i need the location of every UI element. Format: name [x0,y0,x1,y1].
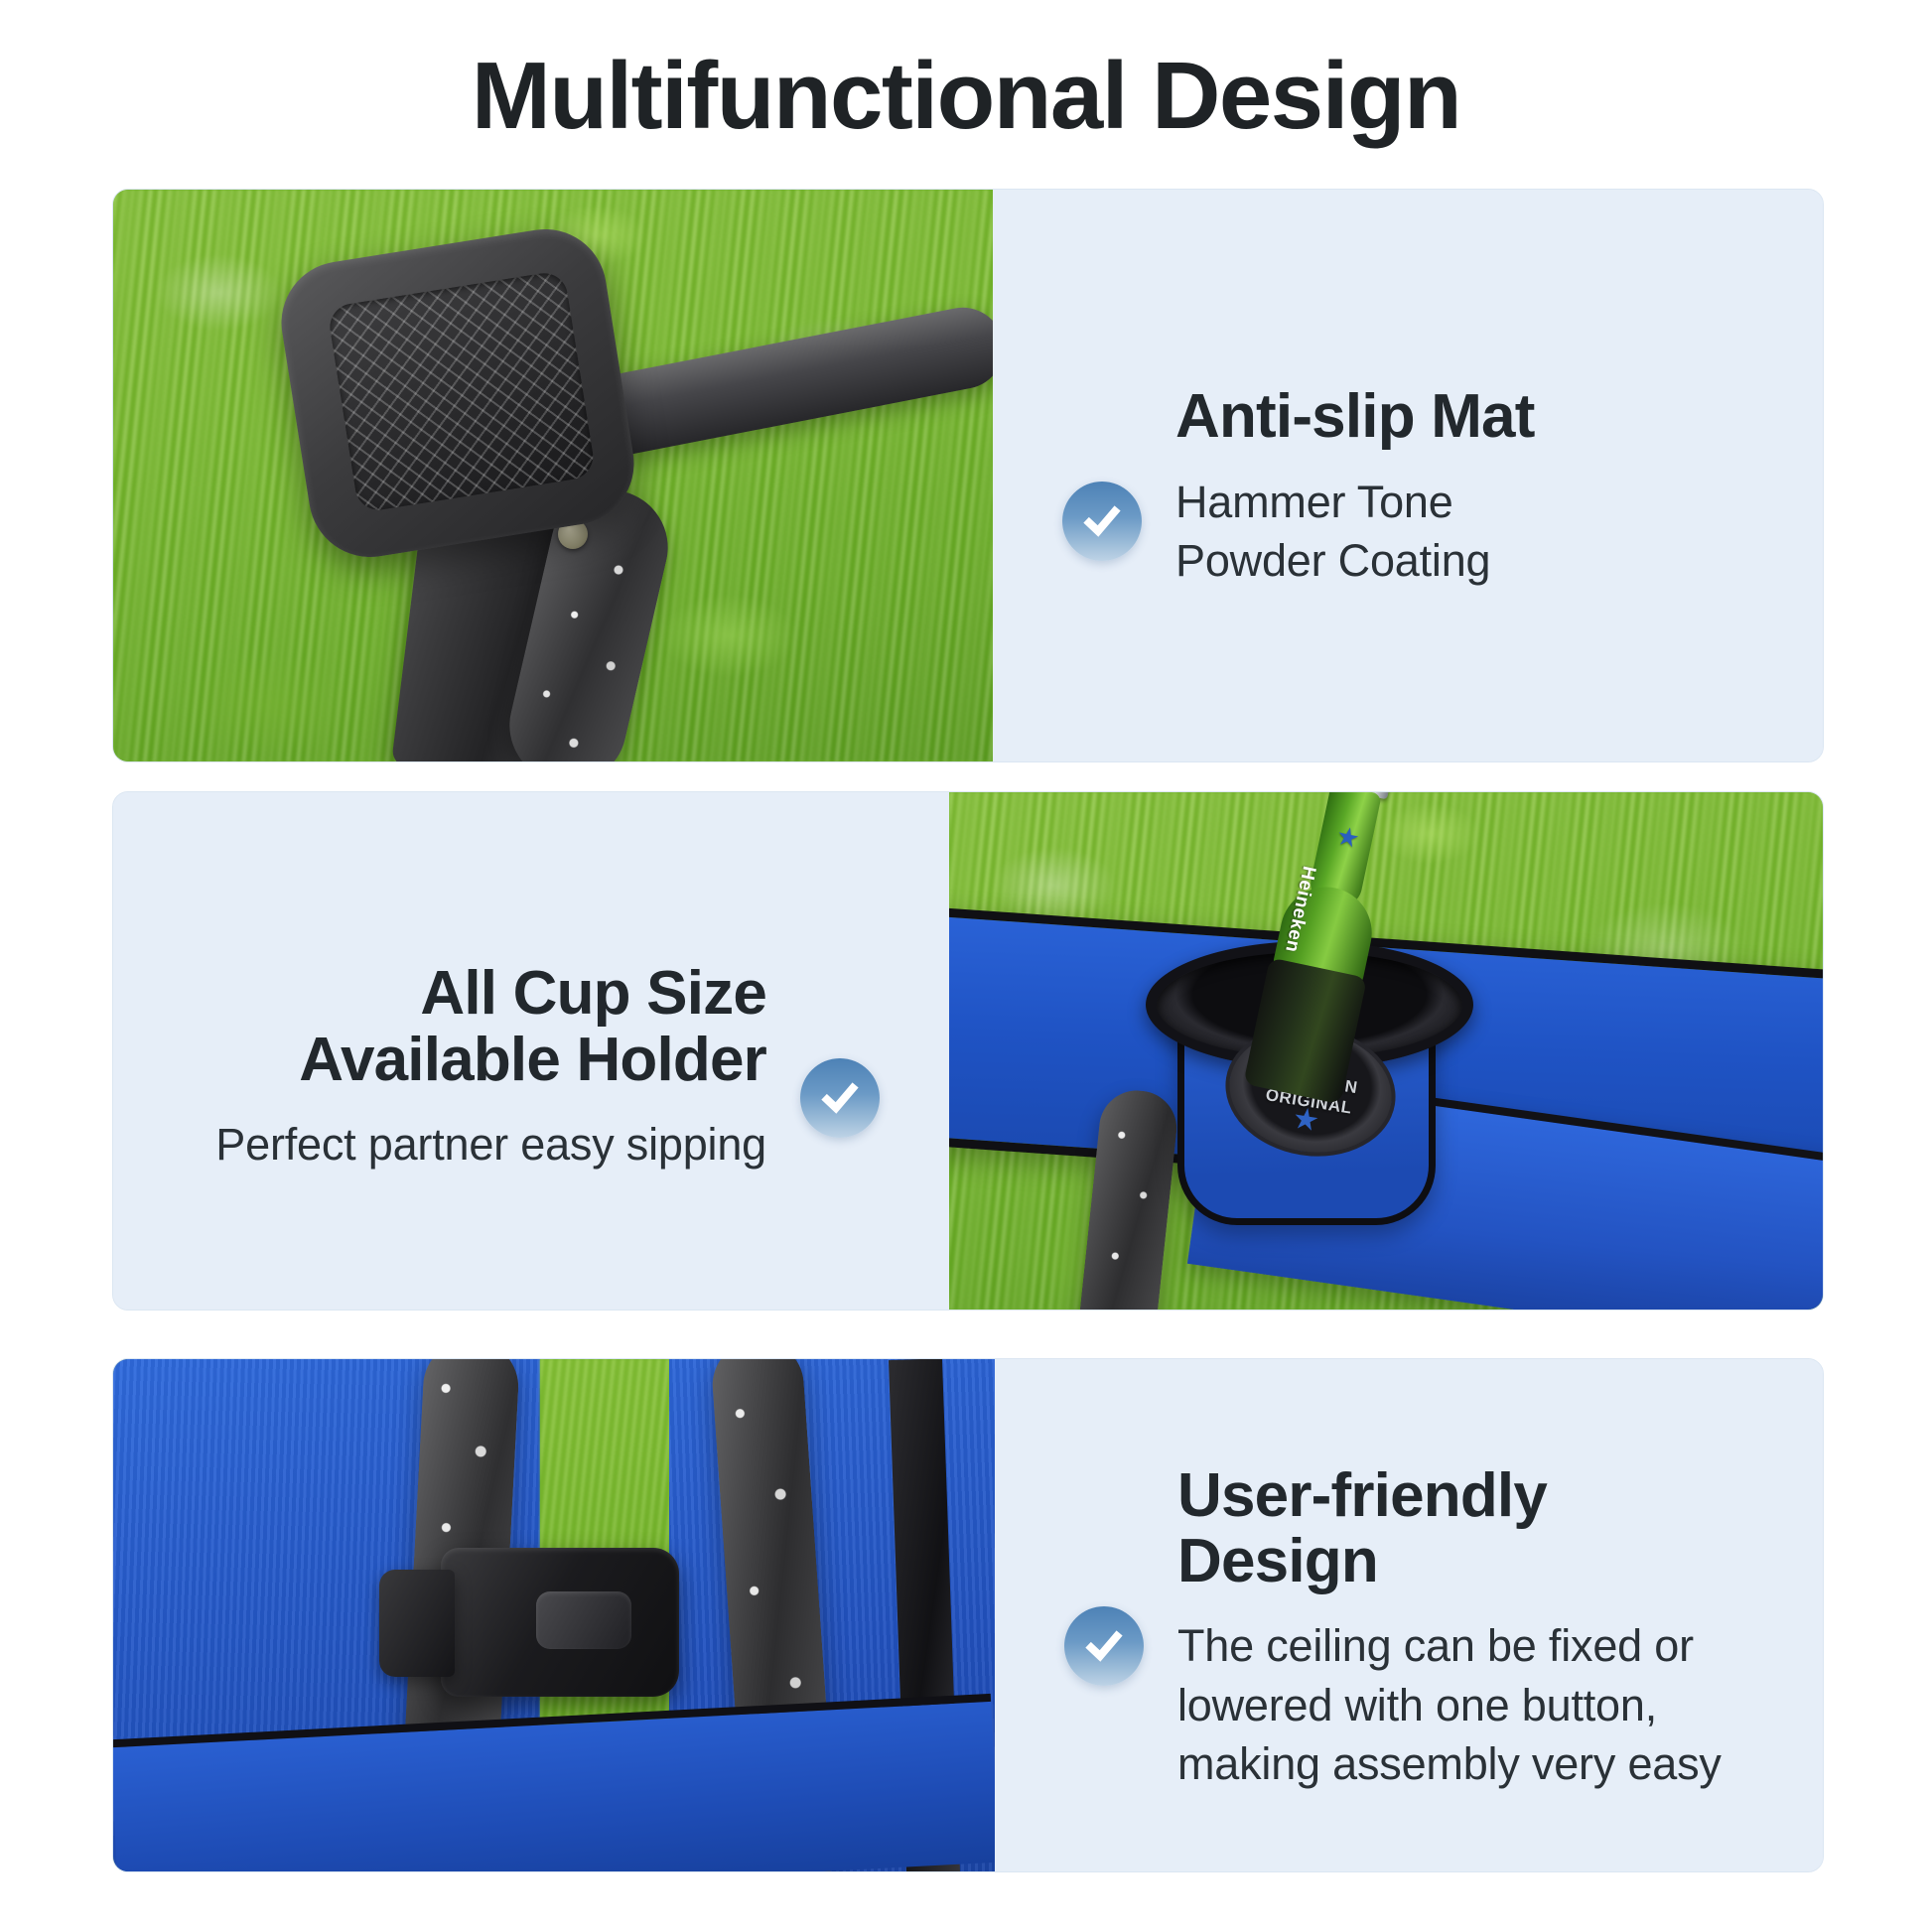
page-title: Multifunctional Design [0,44,1932,149]
black-locking-clip [441,1548,679,1697]
check-circle-icon [1064,1606,1144,1686]
feature-heading: All Cup Size Available Holder [169,961,766,1093]
star-icon: ★ [1291,1104,1321,1138]
check-circle-icon [1062,482,1142,561]
product-photo-anti-slip-mat [113,190,993,761]
feature-texts: User-friendly Design The ceiling can be … [1177,1438,1767,1794]
feature-body: Perfect partner easy sipping [169,1115,766,1173]
feature-card-cup-holder: HEINEKEN ORIGINAL ★ ★ Heineken [112,791,1824,1311]
feature-texts: Anti-slip Mat Hammer Tone Powder Coating [1175,360,1767,590]
textured-grid [327,270,597,513]
product-photo-cup-holder: HEINEKEN ORIGINAL ★ ★ Heineken [949,792,1823,1310]
bottle-body [1243,957,1367,1104]
feature-texts: All Cup Size Available Holder Perfect pa… [169,927,766,1173]
feature-heading: User-friendly Design [1177,1463,1767,1595]
text-pane: User-friendly Design The ceiling can be … [995,1359,1823,1871]
feature-heading: Anti-slip Mat [1175,384,1767,450]
text-pane: All Cup Size Available Holder Perfect pa… [113,792,949,1310]
feature-content: User-friendly Design The ceiling can be … [995,1438,1823,1794]
feature-content: Anti-slip Mat Hammer Tone Powder Coating [993,360,1823,590]
infographic-page: Multifunctional Design Anti-slip Mat [0,0,1932,1932]
anti-slip-foot-cap [273,220,643,566]
product-photo-locking-clip [113,1359,995,1871]
feature-content: All Cup Size Available Holder Perfect pa… [113,927,949,1173]
feature-card-user-friendly-design: User-friendly Design The ceiling can be … [112,1358,1824,1872]
feature-body: The ceiling can be fixed or lowered with… [1177,1616,1767,1793]
feature-body: Hammer Tone Powder Coating [1175,473,1767,591]
check-circle-icon [800,1058,880,1138]
text-pane: Anti-slip Mat Hammer Tone Powder Coating [993,190,1823,761]
feature-card-anti-slip-mat: Anti-slip Mat Hammer Tone Powder Coating [112,189,1824,762]
